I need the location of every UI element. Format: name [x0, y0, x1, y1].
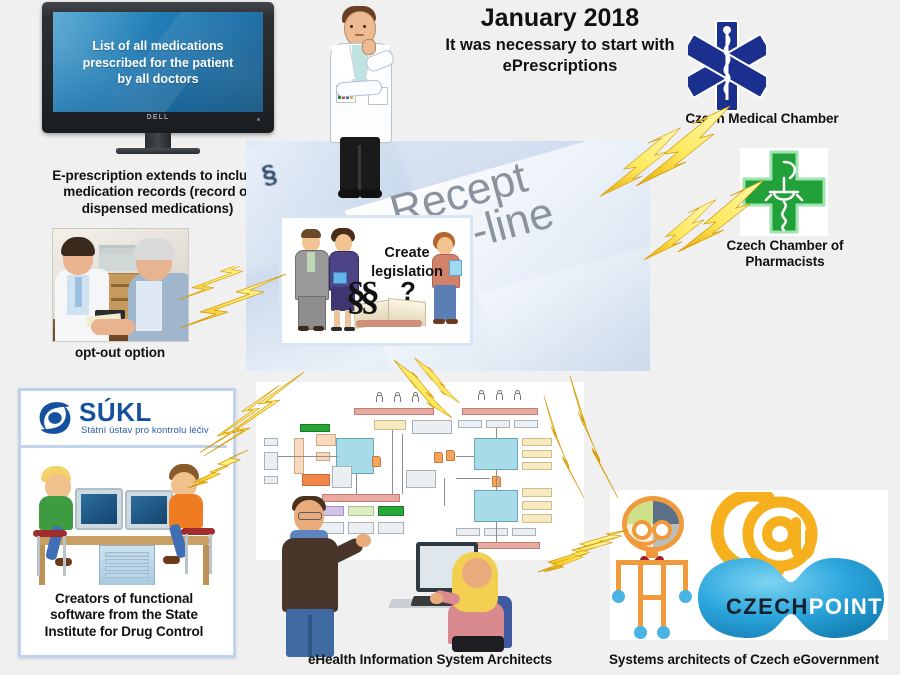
monitor-bezel: List of all medications prescribed for t… — [42, 2, 274, 133]
sukl-eye-icon — [37, 401, 73, 435]
doctor-trousers — [340, 137, 380, 193]
monitor-screen: List of all medications prescribed for t… — [53, 12, 263, 112]
doctor-hair — [61, 237, 95, 256]
caption-ehealth-architects: eHealth Information System Architects — [290, 652, 570, 668]
lightning-bolt-to-egov — [536, 528, 632, 584]
section-symbols: §§ — [346, 280, 374, 312]
lightning-bolt-sukl-small — [186, 448, 252, 490]
woman-skirt — [452, 636, 504, 652]
glasses-icon — [298, 512, 322, 520]
caption-egovernment-architects: Systems architects of Czech eGovernment — [594, 652, 894, 668]
presenter-hand — [356, 534, 371, 547]
czechpoint-wordmark: CZECHPOINT — [726, 594, 883, 620]
power-led-icon — [257, 118, 260, 121]
doctor-tie — [75, 277, 82, 307]
doctor-arm-lower — [336, 79, 383, 97]
monitor-left — [75, 488, 123, 530]
patient-shirt — [136, 281, 162, 331]
doctor-eye-left — [350, 25, 353, 28]
woman-at-computer-clipart — [390, 536, 515, 654]
doctor-shoe-right — [360, 189, 382, 198]
doctor-patient-photo — [52, 228, 189, 342]
sukl-logo-header: SÚKL Státní ústav pro kontrolu léčiv — [21, 391, 227, 448]
hands — [91, 319, 135, 335]
figure-forearm-right — [683, 560, 688, 594]
presenter-clipart — [268, 494, 378, 654]
joint-dot — [657, 626, 670, 639]
doctor-mouth — [355, 34, 364, 36]
lightning-bolt-to-pharmacists — [642, 176, 772, 286]
slide-canvas: January 2018 It was necessary to start w… — [0, 0, 900, 675]
page-subtitle: It was necessary to start with ePrescrip… — [410, 35, 710, 77]
doctor-shoe-left — [338, 189, 360, 198]
doctor-eye-right — [363, 25, 366, 28]
lightning-bolt-to-architecture — [386, 358, 482, 422]
monitor-illustration: List of all medications prescribed for t… — [42, 2, 274, 152]
patient-hair — [133, 238, 175, 260]
lightning-bolt-to-opt-out — [178, 266, 288, 336]
woman-head — [462, 558, 492, 588]
czechpoint-word-czech: CZECH — [726, 594, 809, 619]
dell-logo: DELL — [147, 114, 170, 121]
joint-dot — [612, 590, 625, 603]
page-title: January 2018 — [410, 4, 710, 33]
slide-title-block: January 2018 It was necessary to start w… — [410, 4, 710, 77]
caption-sukl-creators: Creators of functional software from the… — [26, 591, 222, 640]
star-of-life-icon — [688, 20, 766, 112]
figure-torso — [638, 560, 666, 600]
presenter-jeans — [286, 609, 334, 657]
monitor-screen-text: List of all medications prescribed for t… — [59, 38, 257, 88]
monitor-right — [125, 490, 173, 530]
doctor-hand — [362, 39, 376, 55]
pc-tower — [99, 545, 155, 585]
joint-dot — [679, 590, 692, 603]
sukl-wordmark: SÚKL — [79, 397, 152, 428]
doctor-clipart — [314, 3, 406, 199]
czechpoint-word-point: POINT — [809, 594, 883, 619]
joint-dot — [634, 626, 647, 639]
question-mark: ? — [400, 276, 416, 307]
woman-hand — [430, 593, 443, 604]
caption-opt-out: opt-out option — [40, 345, 200, 361]
monitor-stand-base — [116, 148, 200, 154]
create-legislation-panel: Create legislation §§ ? — [279, 215, 473, 346]
lightning-bolt-to-czechpoint — [536, 374, 646, 519]
czechpoint-panel: CZECHPOINT — [610, 490, 888, 640]
sukl-tagline: Státní ústav pro kontrolu léčiv — [81, 425, 209, 436]
caption-medication-records: E-prescription extends to include medica… — [50, 168, 265, 217]
